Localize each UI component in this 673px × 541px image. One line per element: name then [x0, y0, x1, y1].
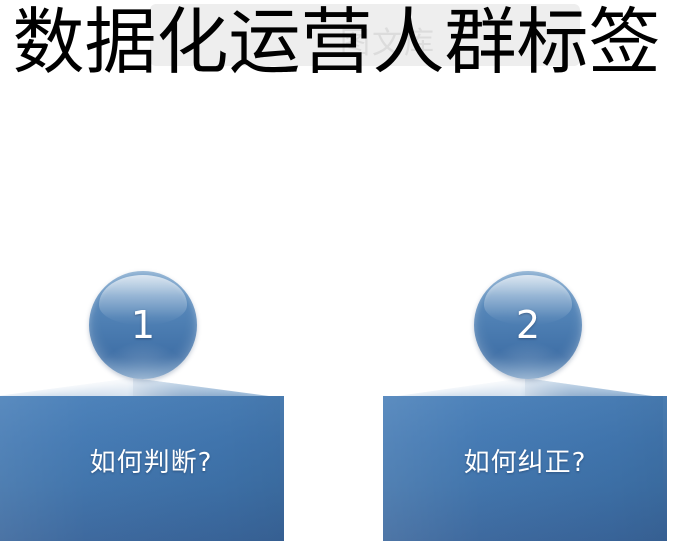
block-1-sphere[interactable]: 1	[89, 271, 197, 379]
block-2-sphere[interactable]: 2	[474, 271, 582, 379]
block-1-top-right-facet	[133, 378, 284, 398]
block-2-label: 如何纠正?	[383, 448, 667, 478]
block-1-box-top-face	[0, 378, 284, 398]
block-1-number: 1	[89, 271, 197, 379]
block-2-top-right-facet	[525, 378, 667, 398]
block-1-top-left-facet	[0, 378, 133, 398]
block-2-top-left-facet	[383, 378, 525, 398]
slide-canvas: 图文库 数据化运营人群标签 如何判断? 1 如何纠正? 2	[0, 0, 673, 541]
block-2-number: 2	[474, 271, 582, 379]
block-2-box-top-face	[383, 378, 667, 398]
block-1-label: 如何判断?	[0, 448, 302, 478]
